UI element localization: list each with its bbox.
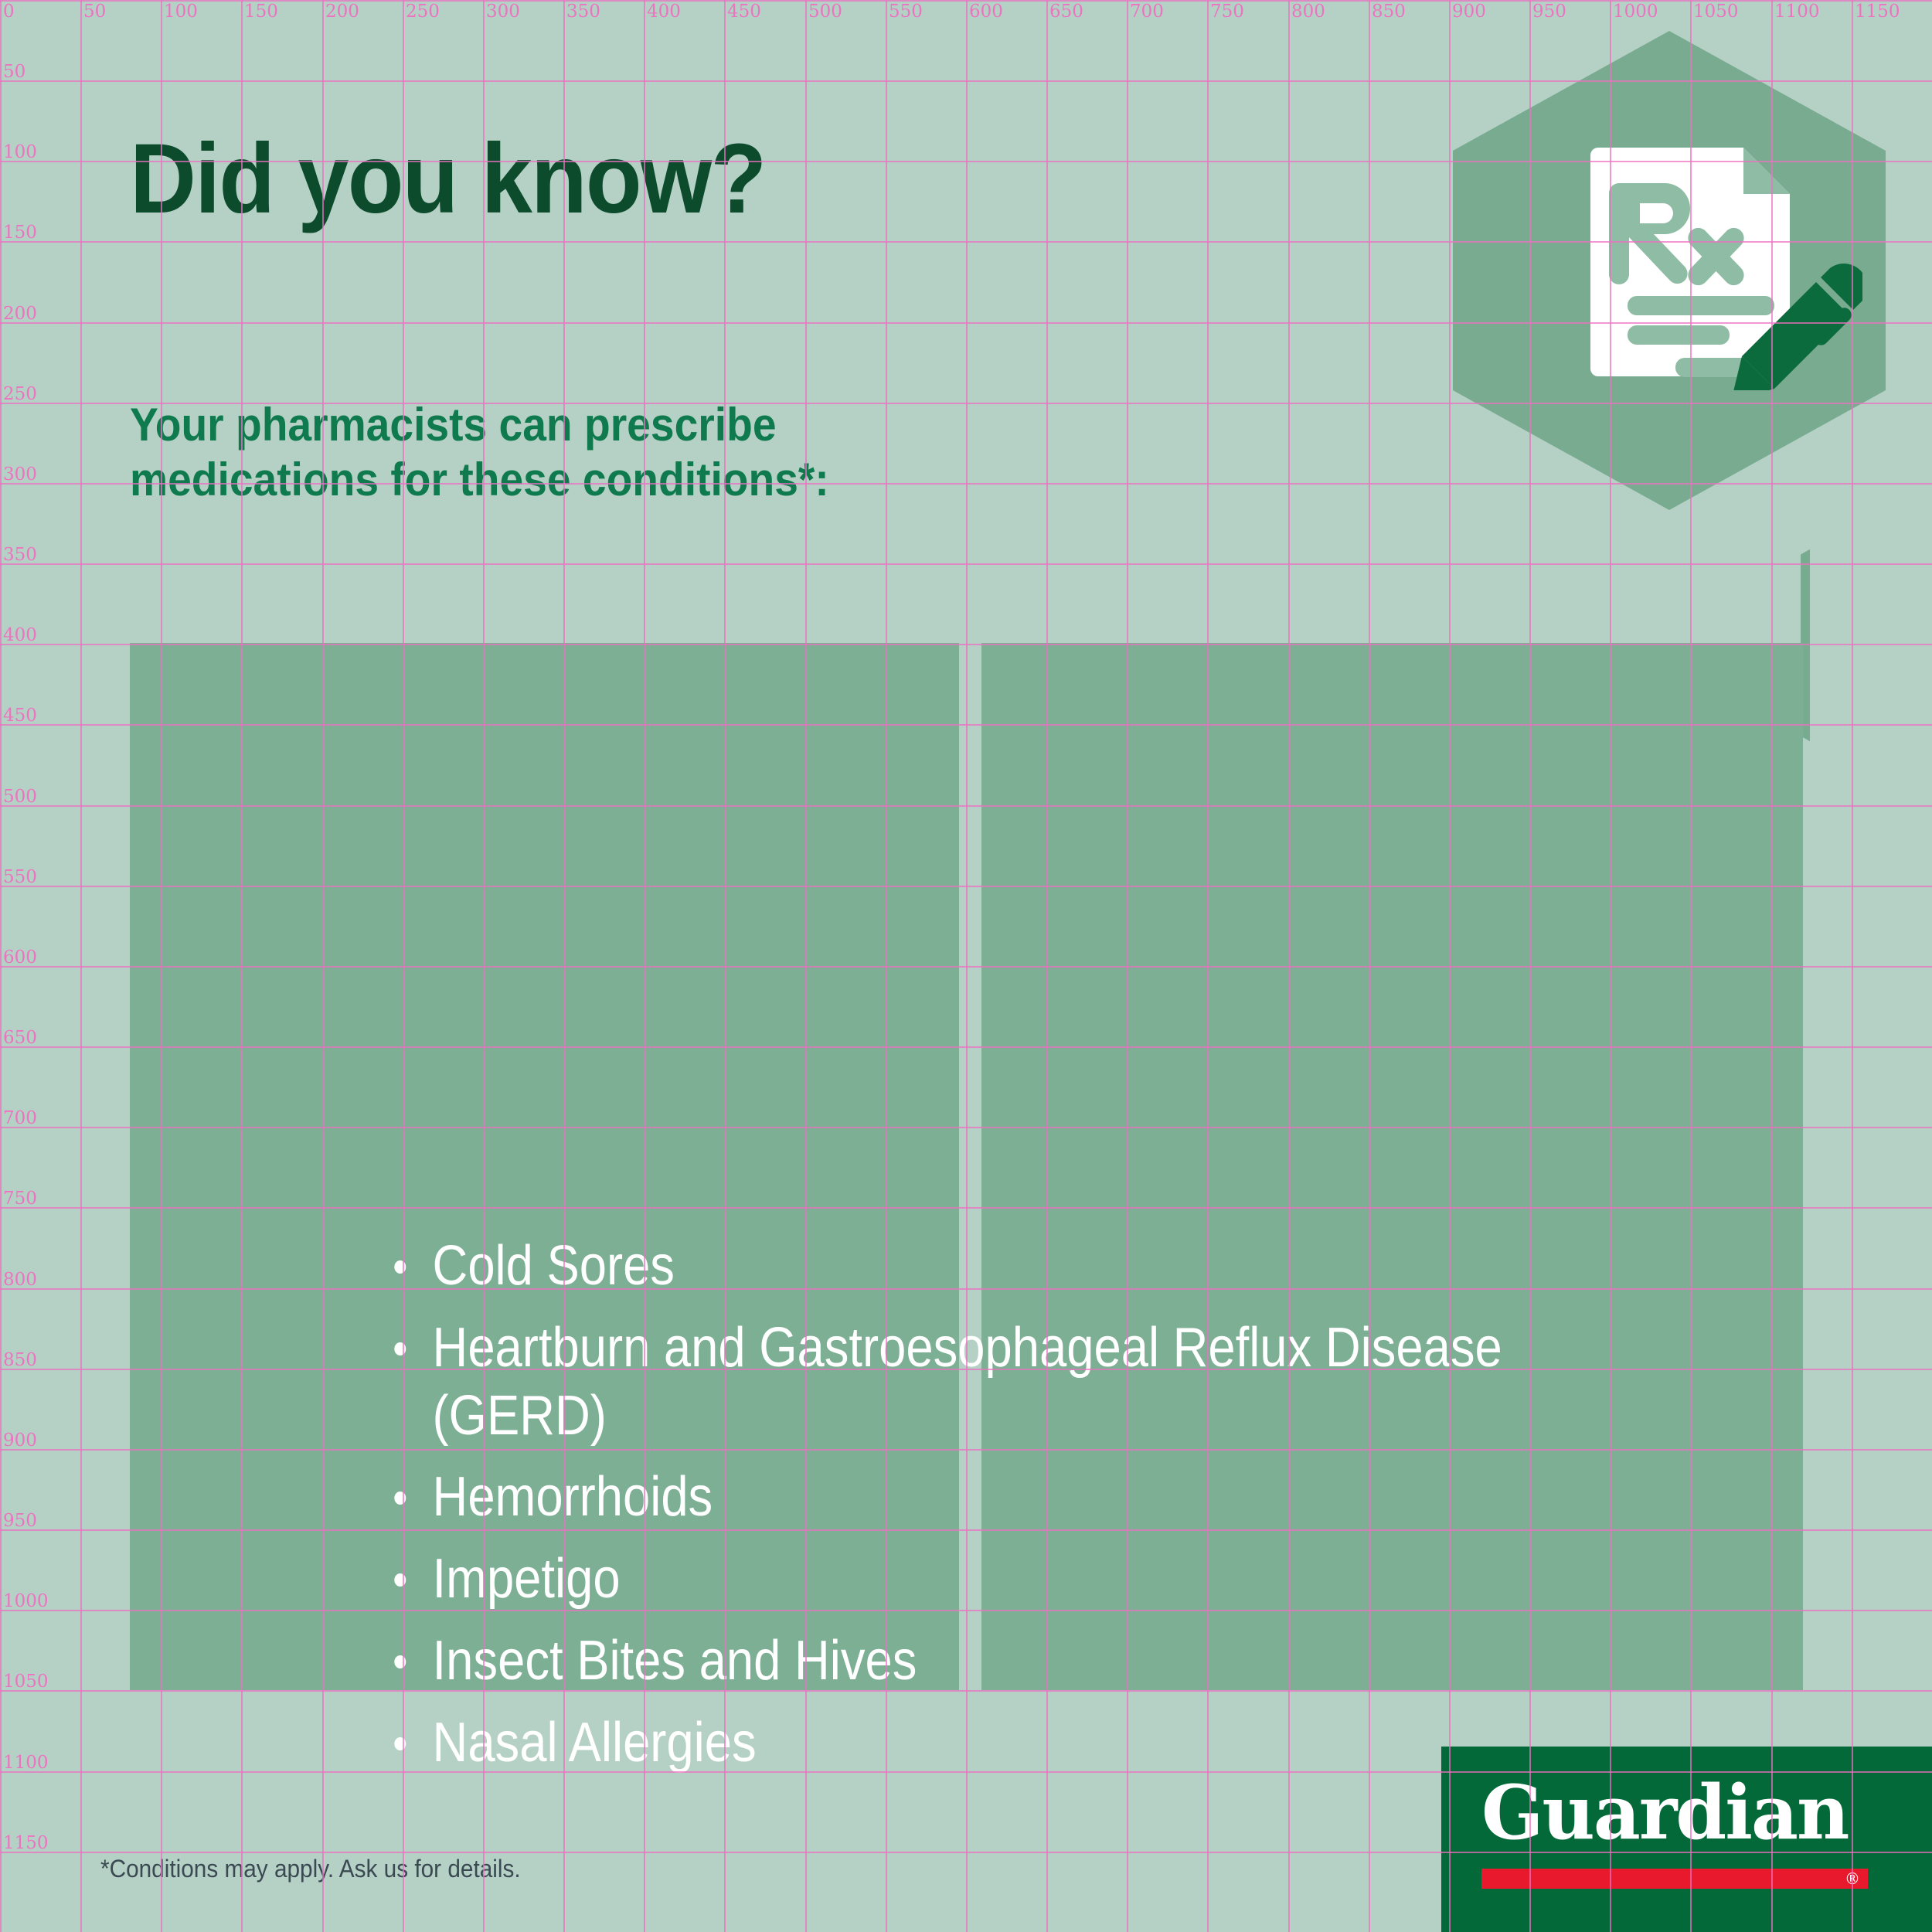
grid-line-horizontal (0, 563, 1932, 565)
rx-prescription-icon (1584, 135, 1862, 390)
grid-label-x: 200 (325, 2, 359, 22)
grid-label-x: 500 (808, 2, 842, 22)
bullet-dot-icon (394, 1260, 406, 1274)
grid-label-x: 550 (889, 2, 923, 22)
grid-label-x: 900 (1452, 2, 1486, 22)
subheading-line-2: medications for these conditions*: (130, 453, 1196, 508)
grid-label-y: 900 (3, 1430, 37, 1451)
grid-label-x: 350 (566, 2, 600, 22)
grid-label-y: 150 (3, 223, 37, 243)
grid-label-x: 0 (3, 2, 15, 22)
bullet-dot-icon (394, 1655, 406, 1668)
grid-label-x: 100 (164, 2, 198, 22)
grid-label-y: 700 (3, 1108, 37, 1128)
grid-label-y: 1150 (3, 1833, 49, 1853)
list-item: Hemorrhoids (390, 1464, 1546, 1532)
grid-label-x: 1100 (1774, 2, 1820, 22)
list-item: Cold Sores (390, 1233, 1546, 1301)
bullet-dot-icon (394, 1342, 406, 1355)
grid-label-y: 400 (3, 625, 37, 645)
list-item-label: Hemorrhoids (433, 1466, 713, 1528)
footnote-disclaimer: *Conditions may apply. Ask us for detail… (100, 1855, 521, 1883)
grid-label-x: 400 (647, 2, 681, 22)
grid-label-y: 800 (3, 1270, 37, 1290)
grid-label-y: 350 (3, 545, 37, 565)
subheading: Your pharmacists can prescribe medicatio… (130, 398, 1196, 508)
grid-label-y: 950 (3, 1511, 37, 1531)
hexagon-outline-shape (1801, 464, 1932, 827)
grid-line-vertical (0, 0, 2, 1932)
grid-label-y: 50 (3, 62, 26, 82)
grid-label-y: 250 (3, 384, 37, 404)
bullet-dot-icon (394, 1737, 406, 1750)
grid-label-x: 150 (244, 2, 278, 22)
bullet-dot-icon (394, 1492, 406, 1505)
list-item: Impetigo (390, 1546, 1546, 1614)
grid-label-x: 850 (1372, 2, 1406, 22)
list-item: Heartburn and Gastroesophageal Reflux Di… (390, 1315, 1546, 1451)
grid-label-x: 800 (1291, 2, 1325, 22)
grid-line-horizontal (0, 0, 1932, 2)
grid-label-y: 200 (3, 304, 37, 324)
grid-label-x: 1150 (1855, 2, 1900, 22)
grid-label-x: 600 (969, 2, 1003, 22)
grid-label-x: 50 (83, 2, 106, 22)
grid-label-y: 500 (3, 787, 37, 807)
list-item-label: Nasal Allergies (433, 1712, 757, 1774)
grid-label-y: 1000 (3, 1591, 49, 1611)
page-title: Did you know? (130, 128, 765, 231)
grid-label-y: 750 (3, 1189, 37, 1209)
conditions-list: Cold SoresHeartburn and Gastroesophageal… (390, 1233, 1704, 1791)
grid-label-x: 700 (1130, 2, 1164, 22)
bullet-dot-icon (394, 1573, 406, 1587)
grid-label-y: 300 (3, 464, 37, 485)
subheading-line-1: Your pharmacists can prescribe (130, 398, 1196, 453)
grid-label-y: 600 (3, 947, 37, 968)
guardian-logo[interactable]: Guardian ® (1441, 1747, 1932, 1932)
list-item: Insect Bites and Hives (390, 1628, 1546, 1696)
grid-label-y: 100 (3, 142, 37, 162)
grid-label-y: 850 (3, 1350, 37, 1370)
grid-label-y: 1050 (3, 1672, 49, 1692)
grid-label-x: 250 (406, 2, 440, 22)
list-item-label: Cold Sores (433, 1235, 675, 1297)
grid-label-x: 1000 (1613, 2, 1658, 22)
grid-label-x: 950 (1532, 2, 1566, 22)
grid-label-x: 650 (1049, 2, 1083, 22)
grid-label-x: 300 (486, 2, 520, 22)
grid-label-y: 1100 (3, 1753, 49, 1773)
registered-trademark-icon: ® (1845, 1870, 1860, 1887)
logo-underline-rule: ® (1481, 1869, 1868, 1889)
poster-canvas: Did you know? Your pharmacists can presc… (0, 0, 1932, 1932)
list-item: Nasal Allergies (390, 1709, 1546, 1777)
list-item-label: Insect Bites and Hives (433, 1630, 917, 1692)
list-item-label: Impetigo (433, 1548, 621, 1610)
grid-label-x: 1050 (1693, 2, 1739, 22)
grid-label-y: 650 (3, 1028, 37, 1048)
grid-label-x: 450 (727, 2, 761, 22)
grid-label-x: 750 (1210, 2, 1244, 22)
grid-line-vertical (80, 0, 82, 1932)
list-item-label: Heartburn and Gastroesophageal Reflux Di… (433, 1317, 1502, 1447)
logo-wordmark: Guardian (1481, 1776, 1848, 1850)
grid-label-y: 550 (3, 867, 37, 887)
grid-label-y: 450 (3, 706, 37, 726)
